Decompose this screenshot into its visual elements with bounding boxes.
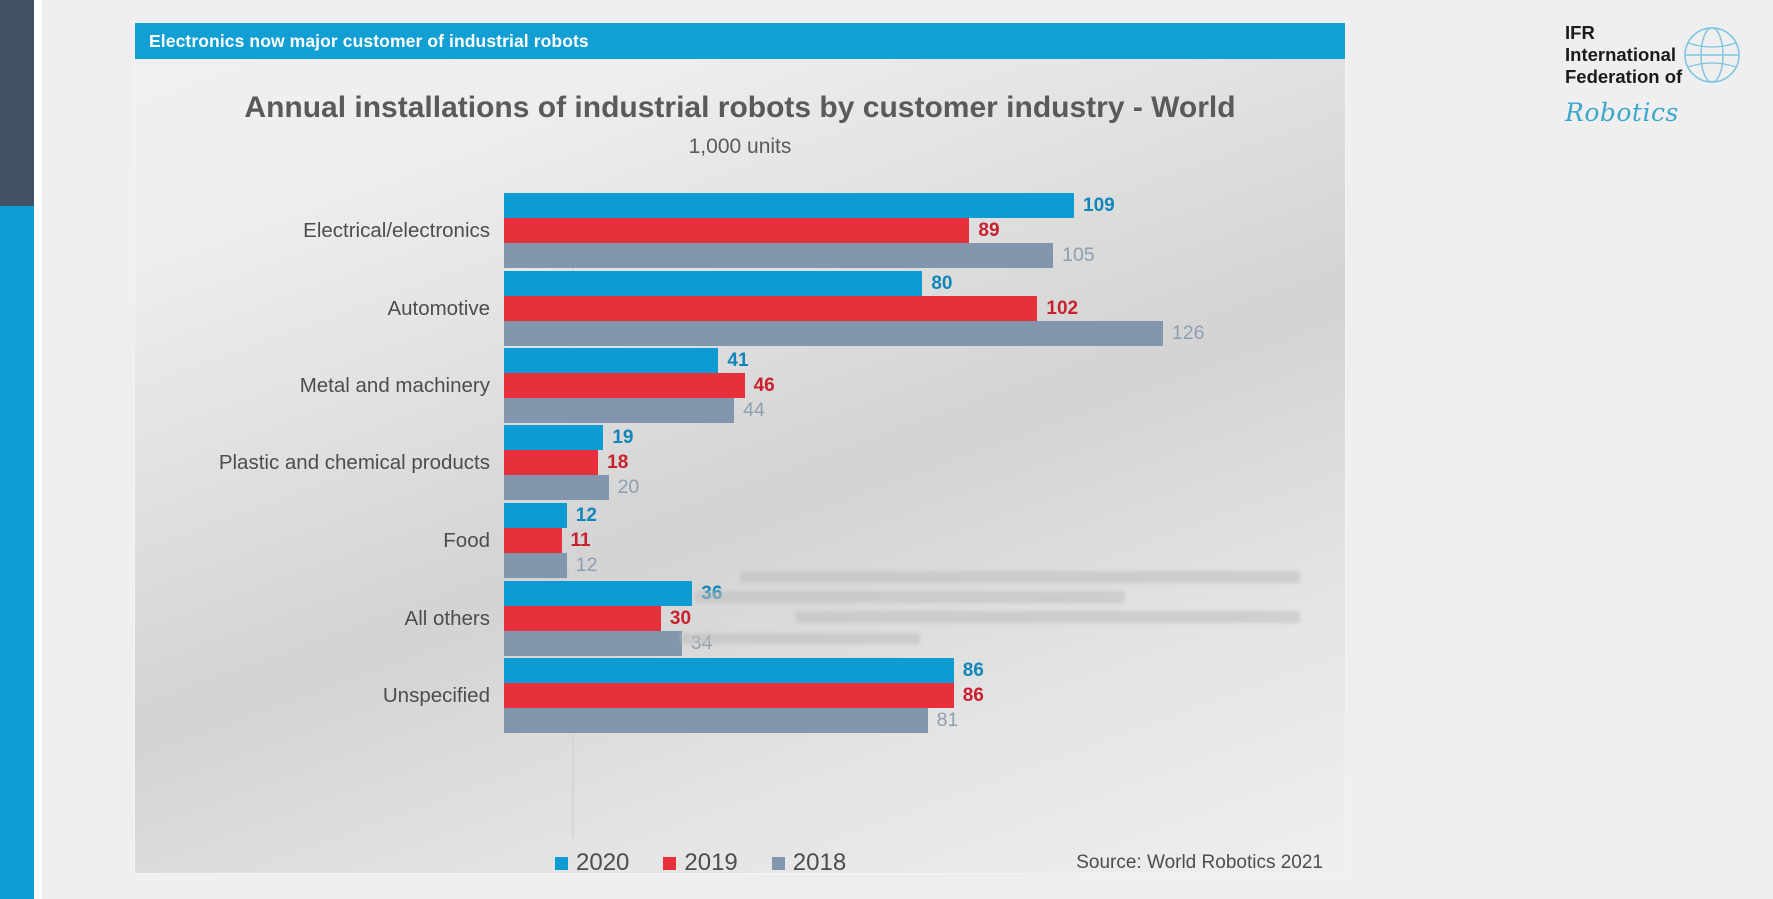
bar-group-bars: 868681	[504, 658, 1345, 733]
bar-group-bars: 414644	[504, 348, 1345, 423]
ifr-logo-line3: Federation of	[1565, 66, 1682, 88]
bar-row: 126	[504, 321, 1345, 346]
legend-item-2019[interactable]: 2019	[663, 849, 737, 877]
legend-item-2018[interactable]: 2018	[772, 849, 846, 877]
bar-group-bars: 191820	[504, 425, 1345, 500]
banner: Electronics now major customer of indust…	[135, 23, 1345, 59]
globe-icon	[1677, 24, 1747, 91]
bar-2019[interactable]	[504, 373, 745, 398]
bar-group: Automotive80102126	[135, 271, 1345, 346]
plot-area: Electrical/electronics10989105Automotive…	[135, 193, 1345, 843]
bar-row: 86	[504, 683, 1345, 708]
chart-title: Annual installations of industrial robot…	[135, 91, 1345, 125]
legend-swatch-icon	[772, 857, 785, 870]
bar-group-bars: 80102126	[504, 271, 1345, 346]
ifr-logo-text: IFR International Federation of	[1565, 22, 1682, 88]
legend-label: 2019	[684, 849, 737, 877]
bar-2018[interactable]	[504, 475, 609, 500]
background-streak	[695, 591, 1125, 603]
bar-group: Food121112	[135, 503, 1345, 578]
bar-2018[interactable]	[504, 243, 1053, 268]
background-streak	[795, 611, 1300, 623]
source-note: Source: World Robotics 2021	[1076, 852, 1323, 874]
chart-subtitle: 1,000 units	[135, 135, 1345, 159]
bar-group: Unspecified868681	[135, 658, 1345, 733]
bar-2020[interactable]	[504, 581, 692, 606]
bar-value-label: 86	[963, 685, 984, 707]
bar-value-label: 18	[607, 452, 628, 474]
bar-2019[interactable]	[504, 296, 1037, 321]
bar-row: 11	[504, 528, 1345, 553]
bar-row: 18	[504, 450, 1345, 475]
bar-value-label: 80	[931, 273, 952, 295]
bar-row: 109	[504, 193, 1345, 218]
bar-value-label: 102	[1046, 298, 1078, 320]
bar-value-label: 11	[571, 530, 591, 552]
legend-label: 2018	[793, 849, 846, 877]
bar-2020[interactable]	[504, 271, 922, 296]
bar-value-label: 12	[576, 505, 597, 527]
banner-title: Electronics now major customer of indust…	[135, 31, 589, 52]
bar-row: 19	[504, 425, 1345, 450]
bar-2018[interactable]	[504, 631, 682, 656]
bar-value-label: 12	[576, 554, 598, 577]
bar-row: 46	[504, 373, 1345, 398]
bar-2020[interactable]	[504, 193, 1074, 218]
bar-2018[interactable]	[504, 708, 928, 733]
bar-value-label: 41	[727, 350, 748, 372]
bar-2018[interactable]	[504, 398, 734, 423]
bar-row: 80	[504, 271, 1345, 296]
bar-value-label: 30	[670, 608, 691, 630]
bar-2019[interactable]	[504, 450, 598, 475]
bar-2018[interactable]	[504, 553, 567, 578]
ifr-logo: IFR International Federation of Robotics	[1565, 22, 1755, 122]
bar-row: 20	[504, 475, 1345, 500]
bar-value-label: 89	[978, 220, 999, 242]
bar-value-label: 19	[612, 427, 633, 449]
bar-row: 89	[504, 218, 1345, 243]
background-streak	[740, 571, 1300, 583]
bar-value-label: 20	[618, 476, 640, 499]
bar-value-label: 44	[743, 399, 765, 422]
bar-value-label: 46	[754, 375, 775, 397]
bar-2019[interactable]	[504, 606, 661, 631]
category-label: Automotive	[135, 296, 504, 322]
bar-row: 12	[504, 503, 1345, 528]
bar-group: Electrical/electronics10989105	[135, 193, 1345, 268]
slide-card: Electronics now major customer of indust…	[135, 23, 1345, 873]
bar-group: Metal and machinery414644	[135, 348, 1345, 423]
category-label: All others	[135, 606, 504, 632]
bar-row: 44	[504, 398, 1345, 423]
bar-row: 34	[504, 631, 1345, 656]
bar-group-bars: 121112	[504, 503, 1345, 578]
legend-swatch-icon	[663, 857, 676, 870]
bar-value-label: 86	[963, 660, 984, 682]
left-rail-dark	[0, 0, 34, 206]
left-gap-divider	[34, 0, 42, 899]
ifr-logo-script: Robotics	[1565, 98, 1679, 127]
bar-row: 81	[504, 708, 1345, 733]
legend-item-2020[interactable]: 2020	[555, 849, 629, 877]
bar-group: Plastic and chemical products191820	[135, 425, 1345, 500]
ifr-logo-line2: International	[1565, 44, 1682, 66]
bar-2018[interactable]	[504, 321, 1163, 346]
bar-value-label: 81	[937, 709, 959, 732]
bar-2019[interactable]	[504, 528, 562, 553]
legend-label: 2020	[576, 849, 629, 877]
category-label: Metal and machinery	[135, 373, 504, 399]
ifr-logo-line1: IFR	[1565, 22, 1682, 44]
bar-group-bars: 10989105	[504, 193, 1345, 268]
bar-row: 86	[504, 658, 1345, 683]
bar-2020[interactable]	[504, 658, 954, 683]
legend: 202020192018 Source: World Robotics 2021	[135, 843, 1345, 883]
category-label: Electrical/electronics	[135, 218, 504, 244]
legend-items: 202020192018	[555, 849, 846, 877]
bar-2020[interactable]	[504, 425, 603, 450]
background-streak	[680, 633, 920, 644]
bar-value-label: 109	[1083, 195, 1115, 217]
bar-value-label: 105	[1062, 244, 1095, 267]
bar-row: 105	[504, 243, 1345, 268]
category-label: Plastic and chemical products	[135, 450, 504, 476]
bar-2019[interactable]	[504, 218, 969, 243]
bar-row: 41	[504, 348, 1345, 373]
bar-2020[interactable]	[504, 348, 718, 373]
bar-value-label: 126	[1172, 322, 1205, 345]
bar-row: 102	[504, 296, 1345, 321]
category-label: Unspecified	[135, 683, 504, 709]
bar-2020[interactable]	[504, 503, 567, 528]
category-label: Food	[135, 528, 504, 554]
bar-2019[interactable]	[504, 683, 954, 708]
legend-swatch-icon	[555, 857, 568, 870]
left-rail-blue	[0, 206, 34, 899]
